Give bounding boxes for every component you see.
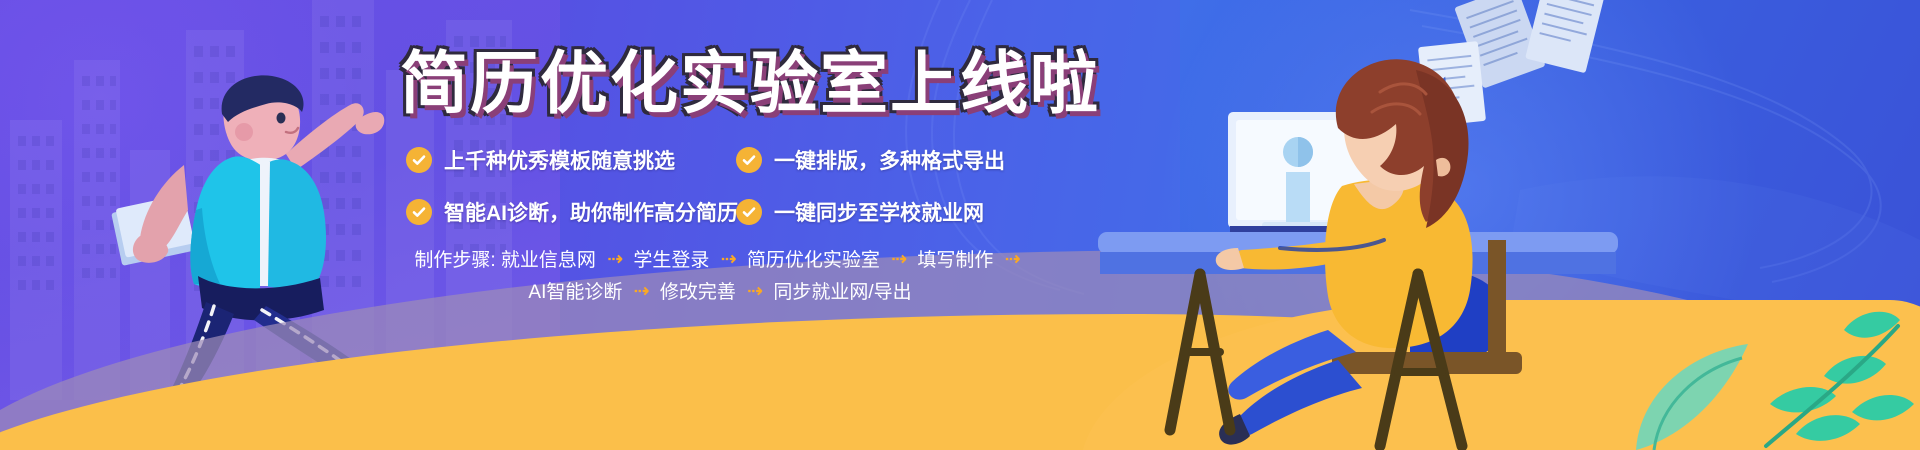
- step-label: 填写制作: [917, 250, 993, 271]
- step-label: 简历优化实验室: [747, 250, 880, 271]
- steps-line-1: 制作步骤: 就业信息网 ⇢ 学生登录 ⇢ 简历优化实验室 ⇢ 填写制作 ⇢: [400, 245, 1040, 277]
- feature-label: 一键排版，多种格式导出: [774, 145, 1005, 175]
- feature-label: 一键同步至学校就业网: [774, 197, 984, 227]
- arrow-icon: ⇢: [1005, 244, 1020, 276]
- promo-banner: 简历优化实验室上线啦 上千种优秀模板随意挑选 一键排版，多种格式导出: [0, 0, 1920, 450]
- arrow-icon: ⇢: [634, 276, 649, 308]
- step-label: AI智能诊断: [528, 282, 622, 303]
- check-circle-icon: [406, 199, 432, 225]
- check-circle-icon: [736, 199, 762, 225]
- steps-flow: 制作步骤: 就业信息网 ⇢ 学生登录 ⇢ 简历优化实验室 ⇢ 填写制作 ⇢ AI…: [400, 245, 1040, 309]
- check-circle-icon: [406, 147, 432, 173]
- feature-row: 上千种优秀模板随意挑选 一键排版，多种格式导出: [406, 145, 1046, 175]
- steps-line-2: AI智能诊断 ⇢ 修改完善 ⇢ 同步就业网/导出: [400, 277, 1040, 309]
- step-label: 就业信息网: [501, 250, 596, 271]
- plant-leaves-graphic: [1636, 312, 1914, 450]
- chair-post: [1488, 240, 1506, 374]
- feature-list: 上千种优秀模板随意挑选 一键排版，多种格式导出 智能AI诊断，助你制作高分简历: [406, 145, 1046, 249]
- arrow-icon: ⇢: [891, 244, 906, 276]
- feature-row: 智能AI诊断，助你制作高分简历 一键同步至学校就业网: [406, 197, 1046, 227]
- arrow-icon: ⇢: [721, 244, 736, 276]
- arrow-icon: ⇢: [747, 276, 762, 308]
- check-circle-icon: [736, 147, 762, 173]
- feature-item: 智能AI诊断，助你制作高分简历: [406, 197, 736, 227]
- arrow-icon: ⇢: [607, 244, 622, 276]
- steps-prefix: 制作步骤:: [414, 250, 495, 271]
- step-label: 同步就业网/导出: [773, 282, 911, 303]
- step-label: 学生登录: [633, 250, 709, 271]
- feature-label: 上千种优秀模板随意挑选: [444, 145, 675, 175]
- feature-item: 上千种优秀模板随意挑选: [406, 145, 736, 175]
- feature-item: 一键同步至学校就业网: [736, 197, 984, 227]
- step-label: 修改完善: [660, 282, 736, 303]
- feature-label: 智能AI诊断，助你制作高分简历: [444, 197, 738, 227]
- page-title: 简历优化实验室上线啦: [400, 44, 1220, 124]
- feature-item: 一键排版，多种格式导出: [736, 145, 1005, 175]
